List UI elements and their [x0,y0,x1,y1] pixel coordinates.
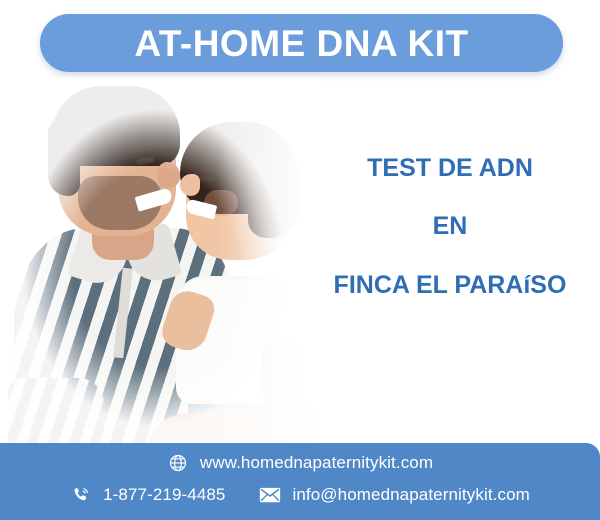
family-photo [0,78,320,468]
website-url: www.homednapaternitykit.com [200,453,433,473]
father-sideburn [48,118,80,196]
footer-item-email[interactable]: info@homednapaternitykit.com [259,484,529,506]
headline-line-2: EN [310,213,590,239]
child-hair-back [248,156,300,238]
child-nose [180,174,200,196]
headline-line-1: TEST DE ADN [310,155,590,181]
header-banner: AT-HOME DNA KIT [40,14,563,72]
footer-item-phone[interactable]: 1-877-219-4485 [70,484,225,506]
promotional-poster: AT-HOME DNA KIT TE [0,0,600,520]
email-address: info@homednapaternitykit.com [292,485,529,505]
phone-icon [70,484,92,506]
father-nose [158,162,180,188]
footer-contact-row: 1-877-219-4485 info@homednapaternitykit.… [0,484,600,506]
footer-item-website[interactable]: www.homednapaternitykit.com [167,452,433,474]
envelope-icon [259,484,281,506]
headline-line-3: FINCA EL PARAíSO [310,272,590,298]
footer-website-row: www.homednapaternitykit.com [0,452,600,474]
headline-block: TEST DE ADN EN FINCA EL PARAíSO [310,155,590,298]
footer-contact-bar: www.homednapaternitykit.com 1-877-219-44… [0,443,600,520]
globe-icon [167,452,189,474]
phone-number: 1-877-219-4485 [103,485,225,505]
page-title: AT-HOME DNA KIT [134,25,468,62]
